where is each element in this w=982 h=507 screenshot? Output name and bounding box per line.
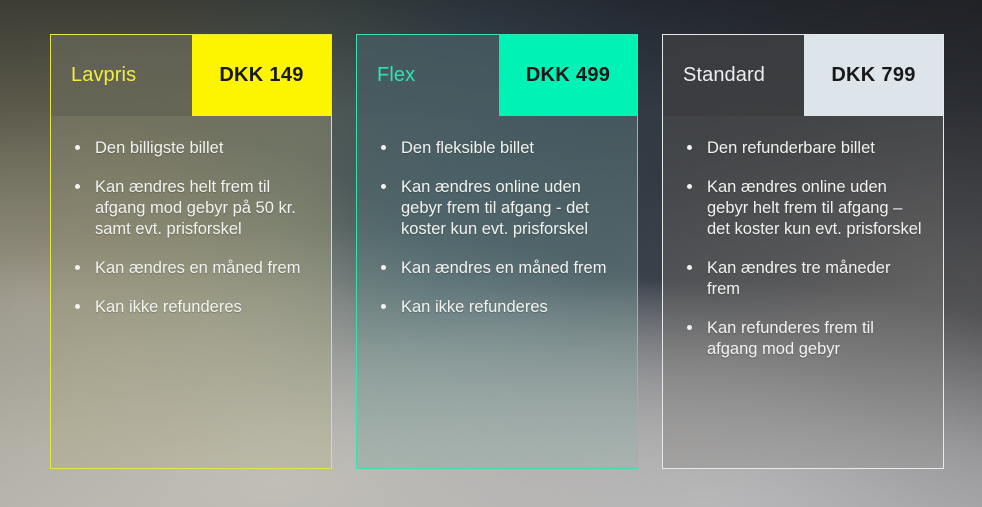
list-item: Kan ændres tre måneder frem [683, 258, 927, 300]
bullet-icon [687, 265, 692, 270]
feature-text: Kan refunderes frem til afgang mod gebyr [707, 319, 874, 358]
feature-list-standard: Den refunderbare billet Kan ændres onlin… [683, 138, 927, 360]
feature-list-flex: Den fleksible billet Kan ændres online u… [377, 138, 621, 318]
card-price-lavpris: DKK 149 [192, 35, 331, 116]
bullet-icon [687, 184, 692, 189]
ticket-card-standard[interactable]: Standard DKK 799 Den refunderbare billet… [662, 34, 944, 469]
card-title-standard: Standard [663, 35, 804, 116]
card-body-flex: Den fleksible billet Kan ændres online u… [357, 116, 637, 332]
card-price-standard: DKK 799 [804, 35, 943, 116]
feature-text: Den billigste billet [95, 139, 223, 157]
ticket-card-lavpris[interactable]: Lavpris DKK 149 Den billigste billet Kan… [50, 34, 332, 469]
bullet-icon [381, 145, 386, 150]
bullet-icon [381, 265, 386, 270]
card-header-standard: Standard DKK 799 [663, 35, 943, 116]
card-header-flex: Flex DKK 499 [357, 35, 637, 116]
feature-text: Kan ændres tre måneder frem [707, 259, 890, 298]
bullet-icon [75, 184, 80, 189]
card-header-lavpris: Lavpris DKK 149 [51, 35, 331, 116]
list-item: Den billigste billet [71, 138, 315, 159]
list-item: Kan ændres helt frem til afgang mod geby… [71, 177, 315, 240]
list-item: Kan ændres en måned frem [377, 258, 621, 279]
feature-text: Kan ændres en måned frem [95, 259, 300, 277]
card-title-flex: Flex [357, 35, 499, 116]
feature-text: Kan ændres online uden gebyr frem til af… [401, 178, 589, 238]
bullet-icon [75, 304, 80, 309]
list-item: Kan ændres en måned frem [71, 258, 315, 279]
list-item: Kan ændres online uden gebyr helt frem t… [683, 177, 927, 240]
list-item: Den refunderbare billet [683, 138, 927, 159]
feature-text: Kan ændres helt frem til afgang mod geby… [95, 178, 296, 238]
list-item: Kan ændres online uden gebyr frem til af… [377, 177, 621, 240]
ticket-card-flex[interactable]: Flex DKK 499 Den fleksible billet Kan æn… [356, 34, 638, 469]
bullet-icon [687, 145, 692, 150]
bullet-icon [75, 265, 80, 270]
card-body-standard: Den refunderbare billet Kan ændres onlin… [663, 116, 943, 374]
feature-text: Kan ikke refunderes [401, 298, 548, 316]
ticket-type-card-group: Lavpris DKK 149 Den billigste billet Kan… [0, 0, 982, 507]
card-title-lavpris: Lavpris [51, 35, 192, 116]
bullet-icon [381, 184, 386, 189]
card-body-lavpris: Den billigste billet Kan ændres helt fre… [51, 116, 331, 332]
feature-text: Kan ændres online uden gebyr helt frem t… [707, 178, 922, 238]
feature-text: Den refunderbare billet [707, 139, 875, 157]
card-price-flex: DKK 499 [499, 35, 637, 116]
feature-text: Kan ikke refunderes [95, 298, 242, 316]
feature-list-lavpris: Den billigste billet Kan ændres helt fre… [71, 138, 315, 318]
bullet-icon [687, 325, 692, 330]
feature-text: Kan ændres en måned frem [401, 259, 606, 277]
list-item: Kan refunderes frem til afgang mod gebyr [683, 318, 927, 360]
feature-text: Den fleksible billet [401, 139, 534, 157]
list-item: Kan ikke refunderes [71, 297, 315, 318]
list-item: Kan ikke refunderes [377, 297, 621, 318]
bullet-icon [381, 304, 386, 309]
bullet-icon [75, 145, 80, 150]
list-item: Den fleksible billet [377, 138, 621, 159]
